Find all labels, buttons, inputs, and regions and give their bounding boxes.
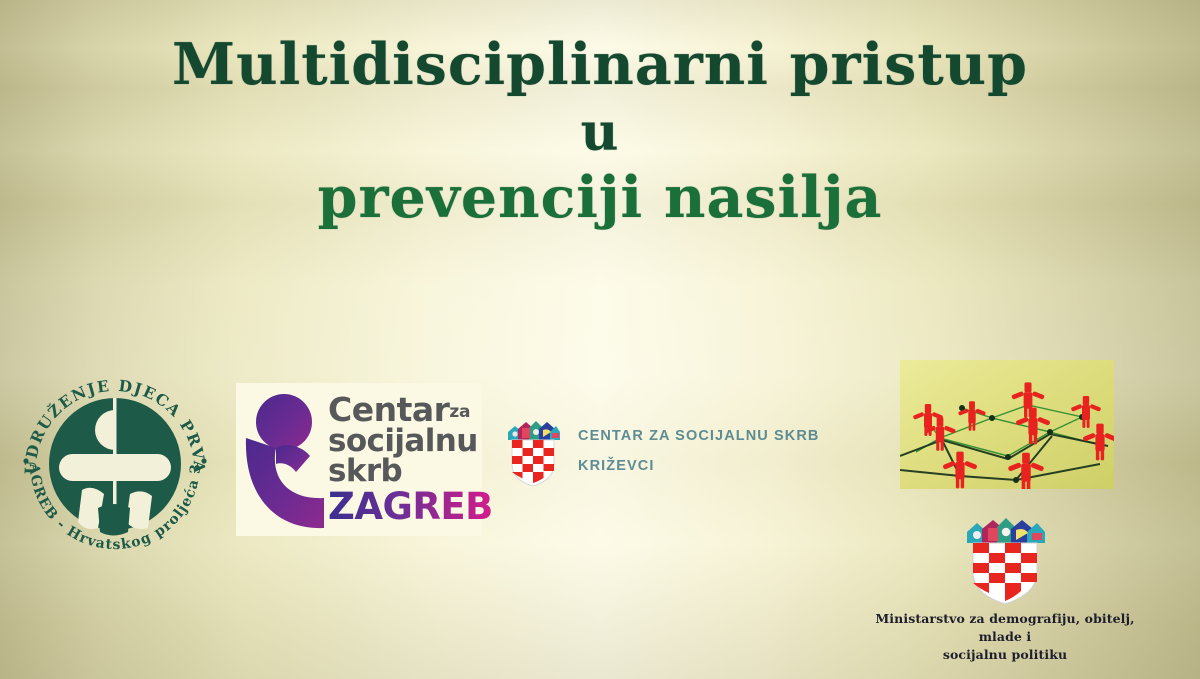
logo-udruzenje-djeca-prva: UDRUŽENJE DJECA PRVA ZAGREB - Hrvatskog … [12,358,218,570]
krizevci-wordmark: CENTAR ZA SOCIJALNU SKRB KRIŽEVCI [560,421,820,482]
network-of-people-photo [900,360,1114,489]
css-zagreb-word-city: ZAGREB [328,489,493,525]
css-zagreb-wordmark: Centarza socijalnu skrb ZAGREB [326,394,493,525]
css-zagreb-figure-icon [240,390,326,530]
logo-centar-socijalna-skrb-krizevci: CENTAR ZA SOCIJALNU SKRB KRIŽEVCI [506,412,836,490]
css-zagreb-word-skrb: skrb [328,456,493,486]
croatian-coat-of-arms-icon [506,416,560,486]
css-zagreb-word-socijalnu: socijalnu [328,426,493,456]
title-line-3: prevenciji nasilja [0,169,1200,227]
krizevci-line-1: CENTAR ZA SOCIJALNU SKRB [578,421,820,451]
krizevci-line-2: KRIŽEVCI [578,451,820,481]
title-line-1: Multidisciplinarni pristup [0,36,1200,94]
ministry-line-2: socijalnu politiku [943,647,1067,662]
title-line-2: u [0,106,1200,159]
ministry-name-label: Ministarstvo za demografiju, obitelj, ml… [855,610,1155,664]
croatian-coat-of-arms-icon [963,512,1047,604]
css-zagreb-word-za: za [449,402,470,422]
seal-dot-right [201,458,206,463]
page-title: Multidisciplinarni pristup u prevenciji … [0,36,1200,227]
seal-dot-left [23,458,28,463]
ministry-line-1: Ministarstvo za demografiju, obitelj, ml… [875,611,1134,644]
poster-canvas: Multidisciplinarni pristup u prevenciji … [0,0,1200,679]
logo-ministarstvo: Ministarstvo za demografiju, obitelj, ml… [855,512,1155,652]
logo-centar-socijalna-skrb-zagreb: Centarza socijalnu skrb ZAGREB [236,383,482,536]
